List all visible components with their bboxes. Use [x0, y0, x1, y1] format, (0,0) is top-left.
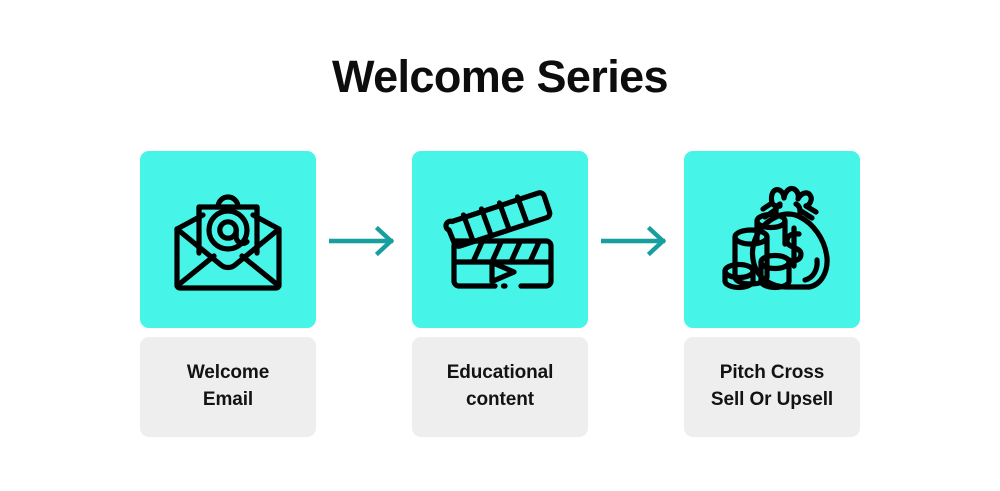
step-label-educational-content: Educational content — [447, 360, 554, 414]
step-label-pitch-cross-sell: Pitch Cross Sell Or Upsell — [711, 360, 833, 414]
step-label-line-1: Welcome — [187, 362, 269, 383]
label-card-welcome-email: Welcome Email — [140, 337, 316, 437]
envelope-at-icon — [169, 185, 287, 295]
flow-connector-1 — [329, 225, 403, 257]
step-label-line-1: Pitch Cross — [720, 362, 825, 383]
icon-card-educational-content — [412, 151, 588, 328]
flow-step-welcome-email[interactable]: Welcome Email — [140, 151, 316, 437]
label-card-pitch-cross-sell: Pitch Cross Sell Or Upsell — [684, 337, 860, 437]
step-label-line-2: Sell Or Upsell — [711, 389, 833, 410]
flow-diagram: Welcome Email — [0, 151, 1000, 441]
step-label-welcome-email: Welcome Email — [187, 360, 269, 414]
icon-card-welcome-email — [140, 151, 316, 328]
label-card-educational-content: Educational content — [412, 337, 588, 437]
icon-card-pitch-cross-sell — [684, 151, 860, 328]
step-label-line-2: content — [466, 389, 534, 410]
step-label-line-2: Email — [203, 389, 253, 410]
arrow-right-icon — [601, 225, 675, 257]
arrow-right-icon — [329, 225, 403, 257]
clapperboard-play-icon — [442, 184, 558, 296]
flow-step-pitch-cross-sell-or-upsell[interactable]: Pitch Cross Sell Or Upsell — [684, 151, 860, 437]
flow-connector-2 — [601, 225, 675, 257]
page-title: Welcome Series — [0, 52, 1000, 102]
money-bag-coins-icon — [713, 184, 831, 296]
flow-step-educational-content[interactable]: Educational content — [412, 151, 588, 437]
diagram-canvas: Welcome Series — [0, 0, 1000, 491]
step-label-line-1: Educational — [447, 362, 554, 383]
